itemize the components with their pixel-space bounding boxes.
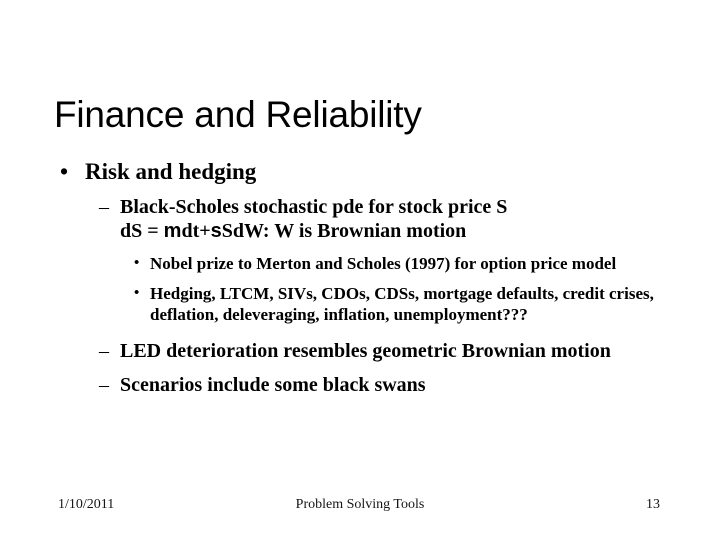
bullet-level3-text: Hedging, LTCM, SIVs, CDOs, CDSs, mortgag… — [150, 284, 654, 324]
formula-middle: dt+ — [181, 220, 210, 242]
bullet-level1-risk-and-hedging: • Risk and hedging — [0, 158, 720, 186]
bullet-level2-scenarios-black-swans: – Scenarios include some black swans — [0, 373, 720, 397]
bullet-level3-nobel-prize: • Nobel prize to Merton and Scholes (199… — [0, 253, 720, 274]
bullet-small-icon: • — [134, 253, 139, 274]
bullet-level2-text: LED deterioration resembles geometric Br… — [120, 340, 611, 362]
symbol-sigma: s — [211, 220, 222, 242]
slide-body: • Risk and hedging – Black-Scholes stoch… — [0, 158, 720, 399]
bullet-level2-line1: Black-Scholes stochastic pde for stock p… — [120, 196, 507, 218]
formula-prefix: dS = — [120, 220, 164, 242]
bullet-level2-black-scholes: – Black-Scholes stochastic pde for stock… — [0, 195, 720, 243]
formula-suffix: SdW: W is Brownian motion — [222, 220, 467, 242]
slide-footer: 1/10/2011 Problem Solving Tools 13 — [0, 496, 720, 518]
bullet-level3-text: Nobel prize to Merton and Scholes (1997)… — [150, 254, 616, 273]
symbol-mu: m — [164, 220, 182, 242]
bullet-level2-led-deterioration: – LED deterioration resembles geometric … — [0, 339, 720, 363]
footer-page-number: 13 — [0, 496, 712, 514]
dash-icon: – — [99, 339, 109, 363]
bullet-level1-text: Risk and hedging — [85, 159, 256, 184]
bullet-level2-text: Scenarios include some black swans — [120, 374, 426, 396]
page-number-value: 13 — [646, 497, 660, 512]
bullet-level3-hedging-crisis-terms: • Hedging, LTCM, SIVs, CDOs, CDSs, mortg… — [0, 283, 720, 325]
slide: Finance and Reliability • Risk and hedgi… — [0, 0, 720, 540]
bullet-round-icon: • — [60, 158, 68, 186]
dash-icon: – — [99, 373, 109, 397]
dash-icon: – — [99, 195, 109, 219]
page-title: Finance and Reliability — [54, 93, 674, 137]
bullet-small-icon: • — [134, 283, 139, 304]
